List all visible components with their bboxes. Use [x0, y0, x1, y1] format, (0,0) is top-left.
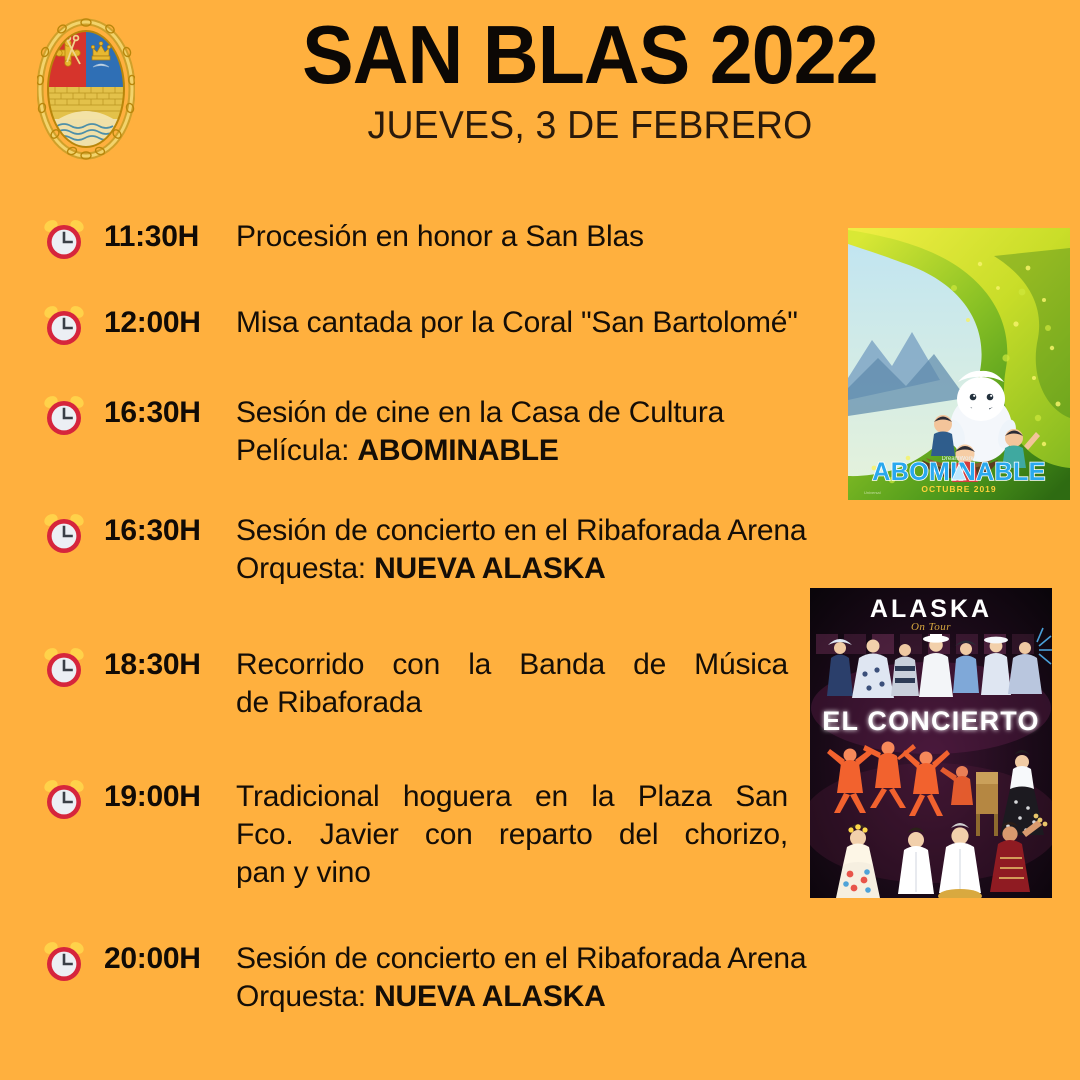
- coat-of-arms-icon: [37, 18, 135, 160]
- alarm-clock-icon: [0, 646, 104, 690]
- schedule-row: 16:30H Sesión de cine en la Casa de Cult…: [0, 394, 1080, 470]
- desc-highlight: NUEVA ALASKA: [374, 980, 606, 1013]
- event-time: 19:00H: [104, 778, 236, 816]
- schedule-row: 11:30H Procesión en honor a San Blas: [0, 218, 1080, 262]
- event-description: Misa cantada por la Coral "San Bartolomé…: [236, 304, 910, 342]
- schedule-row: 20:00H Sesión de concierto en el Ribafor…: [0, 940, 1080, 1016]
- event-time: 16:30H: [104, 394, 236, 432]
- alarm-clock-icon: [0, 778, 104, 822]
- desc-label: Orquesta:: [236, 980, 374, 1013]
- desc-line: Película: ABOMINABLE: [236, 432, 866, 470]
- desc-line: Orquesta: NUEVA ALASKA: [236, 550, 916, 588]
- poster-header: SAN BLAS 2022 JUEVES, 3 DE FEBRERO: [0, 0, 1080, 175]
- event-time: 12:00H: [104, 304, 236, 342]
- event-description: Recorrido con la Banda de Música de Riba…: [236, 646, 802, 722]
- event-description: Sesión de cine en la Casa de Cultura Pel…: [236, 394, 880, 470]
- event-poster: SAN BLAS 2022 JUEVES, 3 DE FEBRERO: [0, 0, 1080, 1080]
- event-time: 20:00H: [104, 940, 236, 978]
- event-description: Sesión de concierto en el Ribaforada Are…: [236, 512, 930, 588]
- desc-line: Sesión de cine en la Casa de Cultura: [236, 394, 866, 432]
- event-schedule: 11:30H Procesión en honor a San Blas 12:…: [0, 196, 1080, 1016]
- desc-highlight: ABOMINABLE: [357, 434, 558, 467]
- schedule-row: 19:00H Tradicional hoguera en la Plaza S…: [0, 778, 1080, 892]
- desc-label: Película:: [236, 434, 357, 467]
- desc-line: pan y vino: [236, 854, 788, 892]
- alarm-clock-icon: [0, 218, 104, 262]
- event-time: 11:30H: [104, 218, 236, 256]
- desc-line: Recorrido con la Banda de Música: [236, 646, 788, 684]
- alarm-clock-icon: [0, 512, 104, 556]
- title-block: SAN BLAS 2022 JUEVES, 3 DE FEBRERO: [150, 12, 1030, 148]
- desc-line: Sesión de concierto en el Ribaforada Are…: [236, 940, 916, 978]
- event-description: Tradicional hoguera en la Plaza San Fco.…: [236, 778, 802, 892]
- event-time: 18:30H: [104, 646, 236, 684]
- schedule-row: 16:30H Sesión de concierto en el Ribafor…: [0, 512, 1080, 588]
- desc-label: Orquesta:: [236, 552, 374, 585]
- alarm-clock-icon: [0, 304, 104, 348]
- alarm-clock-icon: [0, 940, 104, 984]
- event-description: Sesión de concierto en el Ribaforada Are…: [236, 940, 930, 1016]
- page-title: SAN BLAS 2022: [181, 12, 999, 98]
- alarm-clock-icon: [0, 394, 104, 438]
- desc-line: Misa cantada por la Coral "San Bartolomé…: [236, 304, 896, 342]
- desc-line: Sesión de concierto en el Ribaforada Are…: [236, 512, 916, 550]
- schedule-row: 12:00H Misa cantada por la Coral "San Ba…: [0, 304, 1080, 348]
- desc-line: Tradicional hoguera en la Plaza San: [236, 778, 788, 816]
- desc-highlight: NUEVA ALASKA: [374, 552, 606, 585]
- event-time: 16:30H: [104, 512, 236, 550]
- schedule-row: 18:30H Recorrido con la Banda de Música …: [0, 646, 1080, 722]
- desc-line: Fco. Javier con reparto del chorizo,: [236, 816, 788, 854]
- page-subtitle: JUEVES, 3 DE FEBRERO: [168, 104, 1013, 148]
- desc-line: de Ribaforada: [236, 684, 788, 722]
- desc-line: Orquesta: NUEVA ALASKA: [236, 978, 916, 1016]
- desc-line: Procesión en honor a San Blas: [236, 218, 706, 256]
- event-description: Procesión en honor a San Blas: [236, 218, 720, 256]
